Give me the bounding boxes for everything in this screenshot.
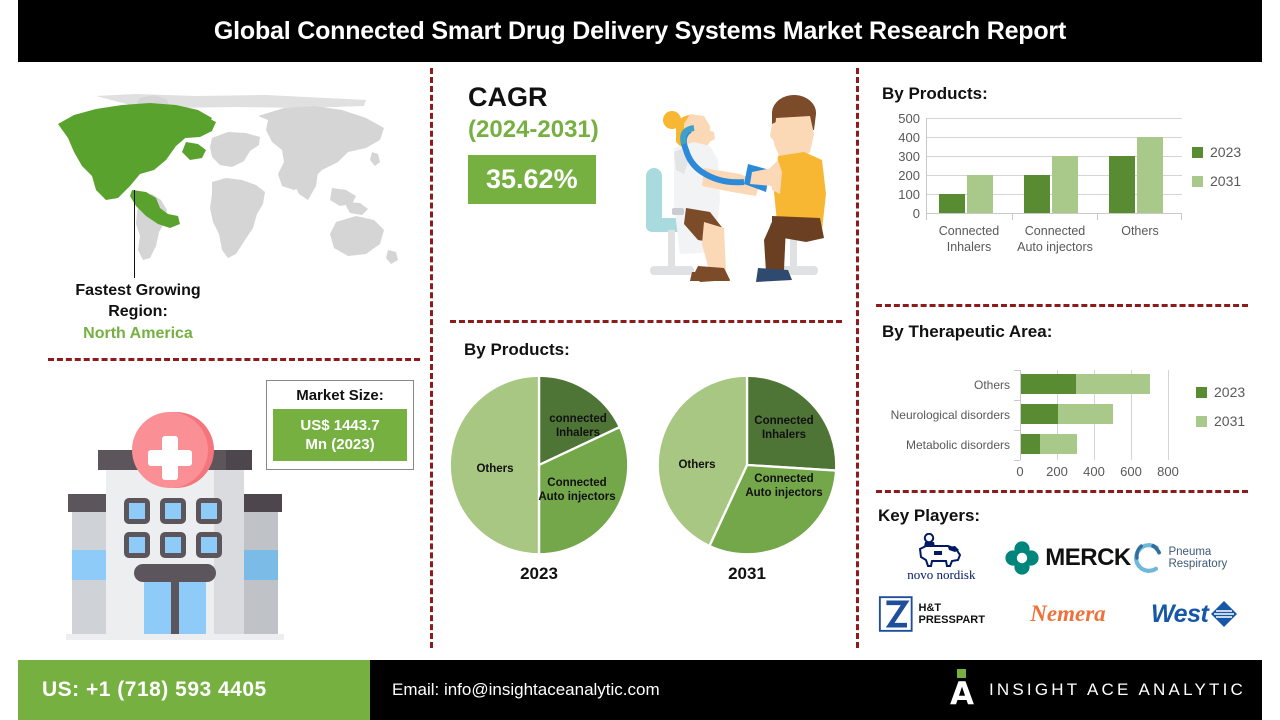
products-bar-chart: 500 400 300 200 100 0 Connected Inhalers… xyxy=(882,118,1242,238)
logo-pneuma-respiratory-text: Pneuma Respiratory xyxy=(1168,546,1258,570)
report-header: Global Connected Smart Drug Delivery Sys… xyxy=(18,0,1262,62)
ytick-0: 0 xyxy=(882,206,920,221)
logo-west: West xyxy=(1151,588,1238,640)
logo-nemera-text: Nemera xyxy=(1030,601,1105,627)
key-players-heading: Key Players: xyxy=(878,506,1258,526)
ytick-line-3 xyxy=(1014,460,1020,461)
merck-clover-icon xyxy=(1005,541,1039,575)
pie-section-heading: By Products: xyxy=(464,340,570,360)
bar-2023-connected-auto-injectors xyxy=(1024,175,1050,213)
hospital-illustration xyxy=(66,410,284,640)
therapeutic-chart-heading: By Therapeutic Area: xyxy=(882,322,1052,342)
map-highlight-north-america xyxy=(58,103,216,228)
page-title: Global Connected Smart Drug Delivery Sys… xyxy=(214,17,1066,46)
region-label-line1: Fastest Growing xyxy=(28,280,248,301)
logo-ht-presspart: H&T PRESSPART xyxy=(878,588,1005,640)
y-axis xyxy=(926,118,927,220)
hcat-others: Others xyxy=(868,378,1010,392)
pie-2023-slice-others xyxy=(450,376,539,555)
fastest-growing-region: Fastest Growing Region: North America xyxy=(28,280,248,345)
right-panel: By Products: 500 400 300 200 100 0 xyxy=(858,62,1262,660)
gridline-500 xyxy=(926,118,1182,119)
therapeutic-legend-label-2031: 2031 xyxy=(1214,413,1245,429)
hbar-2031-others xyxy=(1076,374,1150,394)
logo-novo-nordisk: novo nordisk xyxy=(907,532,975,584)
pie-2031-slice-inhalers xyxy=(747,376,836,471)
ytick-line-top xyxy=(1014,370,1020,371)
xtick-400: 400 xyxy=(1082,464,1106,479)
pneuma-swirl-icon xyxy=(1131,538,1165,578)
footer-brand-text: INSIGHT ACE ANALYTIC xyxy=(989,680,1246,700)
xtick-0: 0 xyxy=(1008,464,1032,479)
therapeutic-bar-chart: Others Neurological disorders Metabolic … xyxy=(868,354,1258,484)
logo-ht-presspart-text: H&T PRESSPART xyxy=(919,602,1005,626)
market-size-title: Market Size: xyxy=(273,387,407,404)
ytick-500: 500 xyxy=(882,111,920,126)
middle-horizontal-divider xyxy=(450,320,842,323)
logo-glyph: A xyxy=(949,680,975,711)
pie-2031-year: 2031 xyxy=(652,564,842,584)
products-chart-legend: 2023 2031 xyxy=(1192,144,1241,202)
logo-merck-text: MERCK xyxy=(1045,544,1131,572)
x-tick-1 xyxy=(1012,213,1013,220)
pie-2031-svg xyxy=(654,372,840,558)
ytick-400: 400 xyxy=(882,130,920,145)
therapeutic-legend-swatch-2023 xyxy=(1196,387,1207,398)
bar-2023-others xyxy=(1109,156,1135,213)
market-size-value: US$ 1443.7 Mn (2023) xyxy=(273,409,407,461)
ytick-line-2 xyxy=(1014,430,1020,431)
legend-swatch-2031 xyxy=(1192,176,1203,187)
legend-swatch-2023 xyxy=(1192,147,1203,158)
market-size-line2: Mn (2023) xyxy=(277,435,403,454)
region-value: North America xyxy=(28,322,248,345)
xcat-connected-inhalers: Connected Inhalers xyxy=(926,223,1012,255)
pie-chart-2031: Connected Inhalers Connected Auto inject… xyxy=(652,372,842,584)
pie-chart-2023: connected Inhalers Connected Auto inject… xyxy=(444,372,634,584)
bar-2031-others xyxy=(1137,137,1163,213)
cagr-title: CAGR xyxy=(468,82,599,113)
key-players-section: Key Players: novo nordisk xyxy=(878,506,1258,640)
hbar-2023-metabolic-disorders xyxy=(1021,434,1040,454)
footer-email[interactable]: Email: info@insightaceanalytic.com xyxy=(370,660,949,720)
key-players-grid: novo nordisk MERCK xyxy=(878,532,1258,640)
market-size-card: Market Size: US$ 1443.7 Mn (2023) xyxy=(266,380,414,470)
pie-2023-svg xyxy=(446,372,632,558)
pie-chart-group: connected Inhalers Connected Auto inject… xyxy=(442,362,852,632)
hbar-2031-neurological-disorders xyxy=(1058,404,1113,424)
map-pointer-line xyxy=(134,190,135,278)
xtick-800: 800 xyxy=(1156,464,1180,479)
pie-2023-year: 2023 xyxy=(444,564,634,584)
x-tick-2 xyxy=(1097,213,1098,220)
footer-phone[interactable]: US: +1 (718) 593 4405 xyxy=(18,660,370,720)
x-tick-3 xyxy=(1181,213,1182,220)
cagr-block: CAGR (2024-2031) 35.62% xyxy=(468,82,599,204)
bar-2031-connected-inhalers xyxy=(967,175,993,213)
ytick-300: 300 xyxy=(882,149,920,164)
vgridline-800 xyxy=(1168,370,1169,460)
right-divider-2 xyxy=(876,490,1248,493)
hbar-2023-others xyxy=(1021,374,1076,394)
legend-label-2031: 2031 xyxy=(1210,173,1241,189)
hbar-2031-metabolic-disorders xyxy=(1040,434,1077,454)
world-map xyxy=(36,90,416,280)
ytick-200: 200 xyxy=(882,168,920,183)
therapeutic-legend-item-2023: 2023 xyxy=(1196,384,1245,400)
doctor-patient-svg xyxy=(632,90,852,305)
hcat-neurological-disorders: Neurological disorders xyxy=(868,408,1010,422)
middle-panel: CAGR (2024-2031) 35.62% xyxy=(432,62,856,660)
ytick-100: 100 xyxy=(882,187,920,202)
therapeutic-legend-item-2031: 2031 xyxy=(1196,413,1245,429)
logo-west-text: West xyxy=(1151,600,1208,629)
bull-icon xyxy=(912,533,970,567)
hbar-2023-neurological-disorders xyxy=(1021,404,1058,424)
cagr-value: 35.62% xyxy=(468,155,596,204)
cagr-period: (2024-2031) xyxy=(468,113,599,147)
infographic-body: Fastest Growing Region: North America xyxy=(18,62,1262,660)
right-divider-1 xyxy=(876,304,1248,307)
legend-item-2023: 2023 xyxy=(1192,144,1241,160)
logo-novo-nordisk-text: novo nordisk xyxy=(907,567,975,583)
therapeutic-chart-legend: 2023 2031 xyxy=(1196,384,1245,442)
xtick-200: 200 xyxy=(1045,464,1069,479)
market-size-line1: US$ 1443.7 xyxy=(277,416,403,435)
west-diamond-icon xyxy=(1210,600,1238,628)
left-horizontal-divider xyxy=(48,358,420,361)
xcat-connected-auto-injectors: Connected Auto injectors xyxy=(1012,223,1098,255)
ht-presspart-mark-icon xyxy=(878,594,914,634)
left-panel: Fastest Growing Region: North America xyxy=(18,62,430,660)
world-map-svg xyxy=(36,90,416,280)
therapeutic-legend-label-2023: 2023 xyxy=(1214,384,1245,400)
legend-label-2023: 2023 xyxy=(1210,144,1241,160)
logo-nemera: Nemera xyxy=(1030,588,1105,640)
xtick-600: 600 xyxy=(1119,464,1143,479)
footer-brand: A INSIGHT ACE ANALYTIC xyxy=(949,660,1262,720)
ytick-line-1 xyxy=(1014,400,1020,401)
bar-2031-connected-auto-injectors xyxy=(1052,156,1078,213)
logo-merck: MERCK xyxy=(1005,532,1131,584)
xcat-others: Others xyxy=(1097,223,1183,239)
report-footer: US: +1 (718) 593 4405 Email: info@insigh… xyxy=(18,660,1262,720)
bar-2023-connected-inhalers xyxy=(939,194,965,213)
insightace-logo-icon: A xyxy=(949,669,975,711)
x-axis xyxy=(926,213,1182,214)
hcat-metabolic-disorders: Metabolic disorders xyxy=(868,438,1010,452)
hospital-svg xyxy=(66,410,284,640)
therapeutic-legend-swatch-2031 xyxy=(1196,416,1207,427)
products-chart-heading: By Products: xyxy=(882,84,988,104)
region-label-line2: Region: xyxy=(28,301,248,322)
doctor-patient-illustration xyxy=(632,90,852,305)
legend-item-2031: 2031 xyxy=(1192,173,1241,189)
logo-pneuma-respiratory: Pneuma Respiratory xyxy=(1131,532,1258,584)
